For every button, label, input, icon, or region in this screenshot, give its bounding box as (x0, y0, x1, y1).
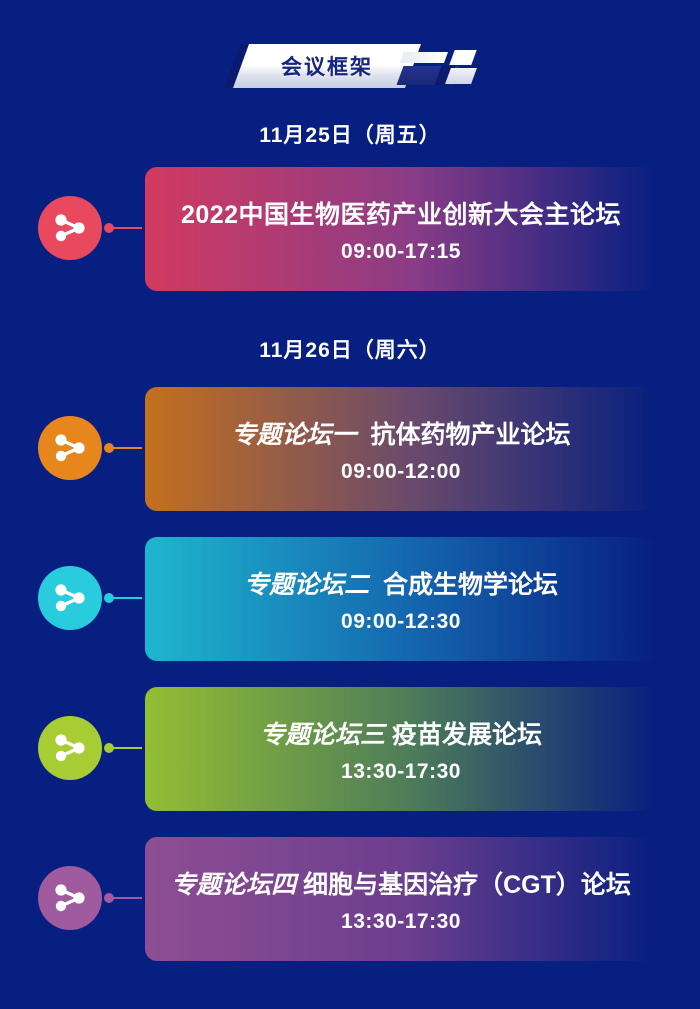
session-card[interactable]: 2022中国生物医药产业创新大会主论坛 09:00-17:15 (145, 167, 657, 291)
date-heading-day1: 11月25日（周五） (0, 119, 700, 149)
session-row[interactable]: 专题论坛二 合成生物学论坛 09:00-12:30 (0, 537, 700, 661)
connector-dot-outer (104, 593, 114, 603)
connector-dot-outer (104, 223, 114, 233)
connector-line (110, 897, 144, 899)
connector (104, 745, 148, 751)
session-card[interactable]: 专题论坛四 细胞与基因治疗（CGT）论坛 13:30-17:30 (145, 837, 657, 961)
session-time: 09:00-12:00 (341, 460, 461, 484)
connector-line (110, 447, 144, 449)
connector (104, 445, 148, 451)
session-time: 09:00-17:15 (341, 240, 461, 264)
session-title: 2022中国生物医药产业创新大会主论坛 (181, 195, 621, 231)
banner-decor-slash-2 (400, 52, 448, 63)
session-title: 专题论坛四 细胞与基因治疗（CGT）论坛 (171, 865, 631, 901)
connector (104, 595, 148, 601)
session-title-suffix: 细胞与基因治疗（CGT）论坛 (303, 871, 631, 899)
connector-dot-outer (104, 893, 114, 903)
session-time: 13:30-17:30 (341, 910, 461, 934)
banner-title: 会议框架 (241, 44, 413, 88)
session-title: 专题论坛二 合成生物学论坛 (244, 565, 558, 601)
session-card[interactable]: 专题论坛三 疫苗发展论坛 13:30-17:30 (145, 687, 657, 811)
session-card-text: 专题论坛一 抗体药物产业论坛 09:00-12:00 (145, 387, 657, 511)
connector-dot-outer (104, 743, 114, 753)
share-nodes-icon (38, 196, 102, 260)
session-row[interactable]: 专题论坛三 疫苗发展论坛 13:30-17:30 (0, 687, 700, 811)
session-time: 09:00-12:30 (341, 610, 461, 634)
connector-line (110, 747, 144, 749)
session-title: 专题论坛三 疫苗发展论坛 (260, 715, 542, 751)
session-title-suffix: 抗体药物产业论坛 (370, 421, 570, 449)
session-title-prefix: 专题论坛二 (244, 571, 369, 599)
session-card-text: 专题论坛三 疫苗发展论坛 13:30-17:30 (145, 687, 657, 811)
session-row[interactable]: 2022中国生物医药产业创新大会主论坛 09:00-17:15 (0, 167, 700, 291)
share-nodes-icon (38, 716, 102, 780)
session-card-text: 专题论坛二 合成生物学论坛 09:00-12:30 (145, 537, 657, 661)
date-heading-day2: 11月26日（周六） (0, 334, 700, 364)
session-title-prefix: 专题论坛一 (232, 421, 357, 449)
session-row[interactable]: 专题论坛一 抗体药物产业论坛 09:00-12:00 (0, 387, 700, 511)
session-title: 专题论坛一 抗体药物产业论坛 (232, 415, 571, 451)
session-title-suffix: 合成生物学论坛 (383, 571, 558, 599)
connector (104, 225, 148, 231)
banner-decor-slash-5 (445, 68, 477, 84)
session-card[interactable]: 专题论坛一 抗体药物产业论坛 09:00-12:00 (145, 387, 657, 511)
connector-line (110, 597, 144, 599)
connector-line (110, 227, 144, 229)
session-card-text: 2022中国生物医药产业创新大会主论坛 09:00-17:15 (145, 167, 657, 291)
session-time: 13:30-17:30 (341, 760, 461, 784)
session-row[interactable]: 专题论坛四 细胞与基因治疗（CGT）论坛 13:30-17:30 (0, 837, 700, 961)
connector-dot-outer (104, 443, 114, 453)
session-card[interactable]: 专题论坛二 合成生物学论坛 09:00-12:30 (145, 537, 657, 661)
share-nodes-icon (38, 566, 102, 630)
header-banner: 会议框架 (0, 44, 700, 96)
session-title-prefix: 专题论坛三 (260, 721, 385, 749)
banner-decor-slash-4 (449, 50, 476, 65)
connector (104, 895, 148, 901)
session-card-text: 专题论坛四 细胞与基因治疗（CGT）论坛 13:30-17:30 (145, 837, 657, 961)
session-title-prefix: 专题论坛四 (171, 871, 296, 899)
session-title-suffix: 疫苗发展论坛 (392, 721, 542, 749)
share-nodes-icon (38, 416, 102, 480)
share-nodes-icon (38, 866, 102, 930)
